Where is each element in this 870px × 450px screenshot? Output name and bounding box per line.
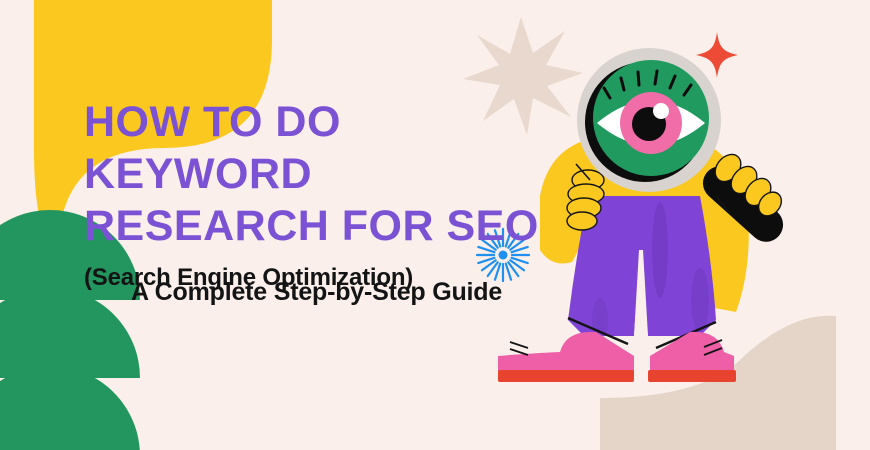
magnifier-eye-icon xyxy=(577,48,721,192)
page-title: HOW TO DO KEYWORD RESEARCH FOR SEO xyxy=(84,96,554,252)
page-tagline: A Complete Step-by-Step Guide xyxy=(131,278,502,307)
seo-banner: HOW TO DO KEYWORD RESEARCH FOR SEO (Sear… xyxy=(0,0,870,450)
shoe-left-sole xyxy=(498,370,634,382)
headline-block: HOW TO DO KEYWORD RESEARCH FOR SEO (Sear… xyxy=(84,96,554,292)
shoe-right-sole xyxy=(648,370,736,382)
eye-highlight xyxy=(653,103,669,119)
